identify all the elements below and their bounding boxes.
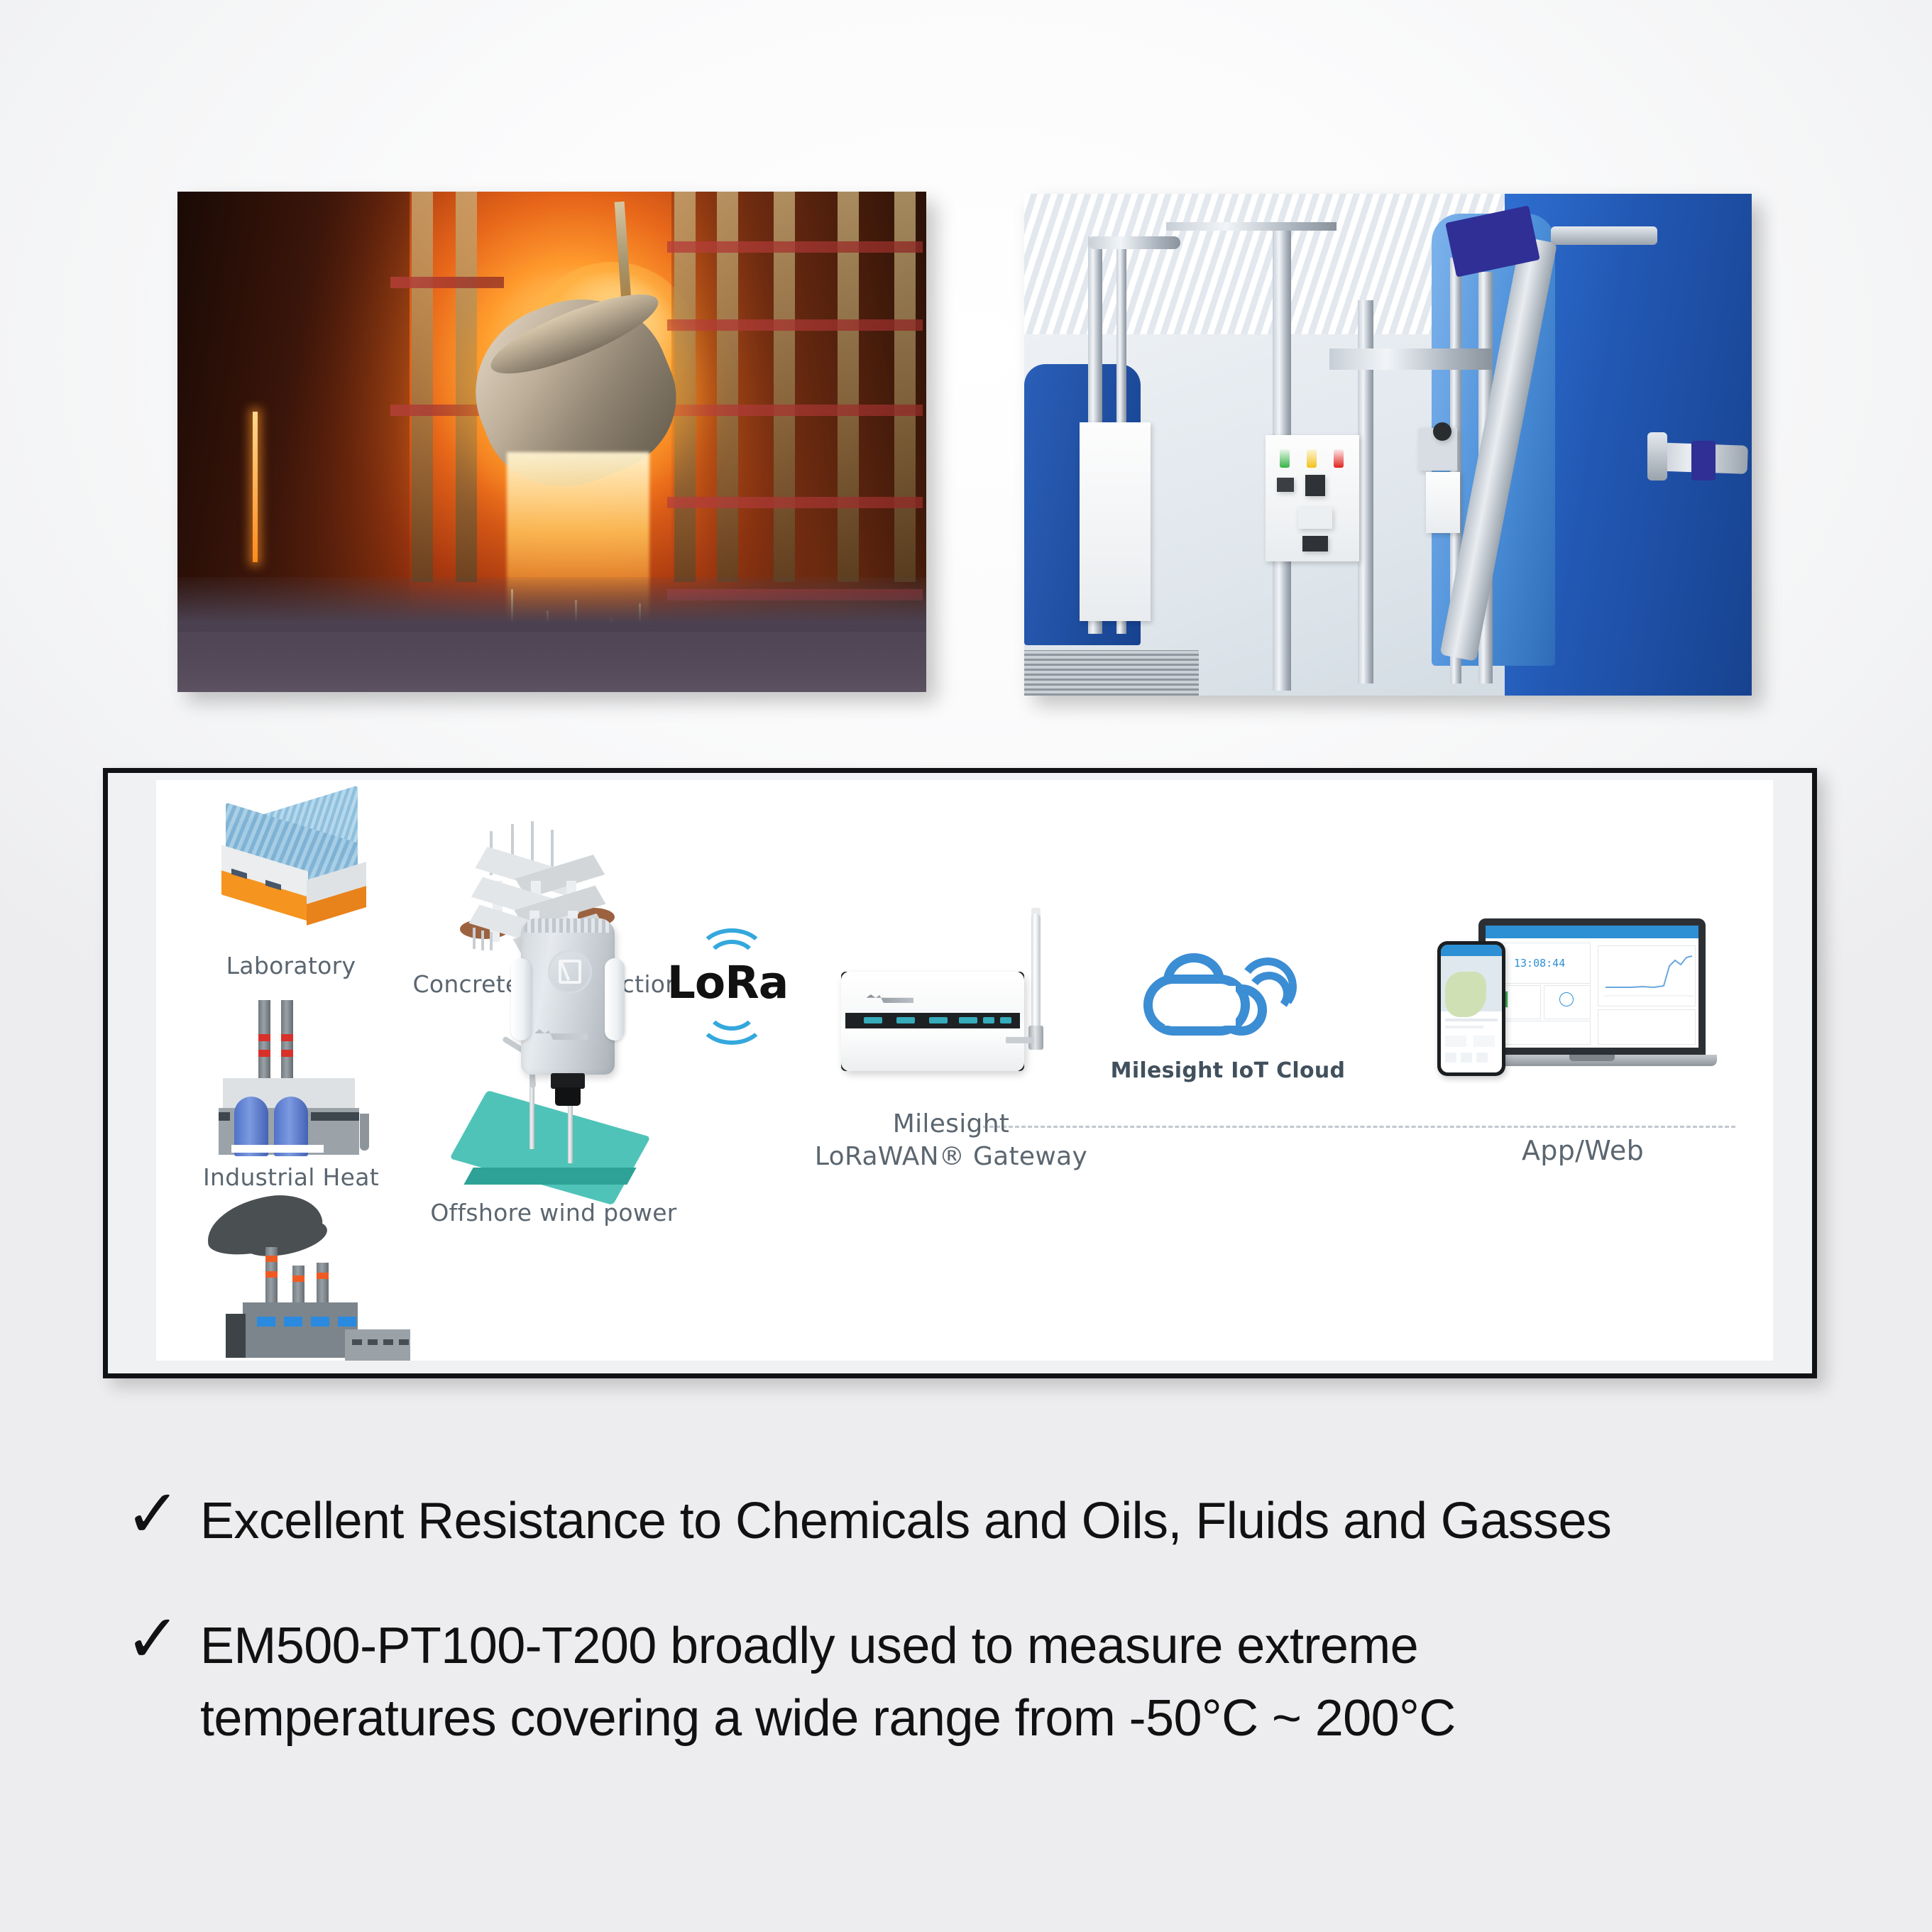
- dashboard-clock: 13:08:44: [1514, 957, 1565, 970]
- check-icon: ✓: [125, 1485, 200, 1545]
- gateway-label-line2: LoRaWAN® Gateway: [788, 1141, 1114, 1173]
- appweb-label: App/Web: [1469, 1135, 1696, 1166]
- check-icon: ✓: [125, 1610, 200, 1670]
- offshore-wind-power-label: Offshore wind power: [397, 1199, 710, 1226]
- bullet-text: EM500-PT100-T200 broadly used to measure…: [200, 1610, 1478, 1755]
- cloud-label: Milesight IoT Cloud: [1100, 1058, 1356, 1083]
- em500-sensor-device-icon: [511, 911, 625, 1103]
- water-treatment-plant-photo: [1024, 194, 1752, 696]
- connection-dashed-line: [983, 1126, 1735, 1128]
- diagram-canvas: Laboratory Industrial Heat: [156, 780, 1773, 1361]
- list-item: ✓ EM500-PT100-T200 broadly used to measu…: [125, 1610, 1814, 1755]
- product-feature-slide: Laboratory Industrial Heat: [0, 0, 1932, 1932]
- bullet-text: Excellent Resistance to Chemicals and Oi…: [200, 1485, 1611, 1557]
- application-topology-diagram: Laboratory Industrial Heat: [103, 768, 1817, 1378]
- lora-wireless-logo: LoRa: [653, 926, 802, 1032]
- list-item: ✓ Excellent Resistance to Chemicals and …: [125, 1485, 1814, 1557]
- cloud-icon: [1139, 945, 1302, 1051]
- industrial-heat-plant-icon: [219, 1000, 368, 1156]
- nfc-icon: [548, 950, 592, 994]
- laboratory-label: Laboratory: [185, 952, 397, 979]
- heat-boiler-factory-icon: [206, 1197, 419, 1361]
- lora-text: LoRa: [653, 957, 802, 1009]
- dashboard-line-chart: [1598, 946, 1695, 1006]
- laboratory-building-icon: [213, 806, 376, 955]
- lorawan-gateway-icon: [841, 950, 1054, 1092]
- steel-foundry-photo: [177, 192, 926, 692]
- laptop-phone-dashboard-icon: 13:08:44: [1437, 918, 1714, 1110]
- industrial-heat-label: Industrial Heat: [170, 1163, 412, 1191]
- feature-bullet-list: ✓ Excellent Resistance to Chemicals and …: [125, 1485, 1814, 1808]
- gateway-label-line1: Milesight: [816, 1108, 1086, 1141]
